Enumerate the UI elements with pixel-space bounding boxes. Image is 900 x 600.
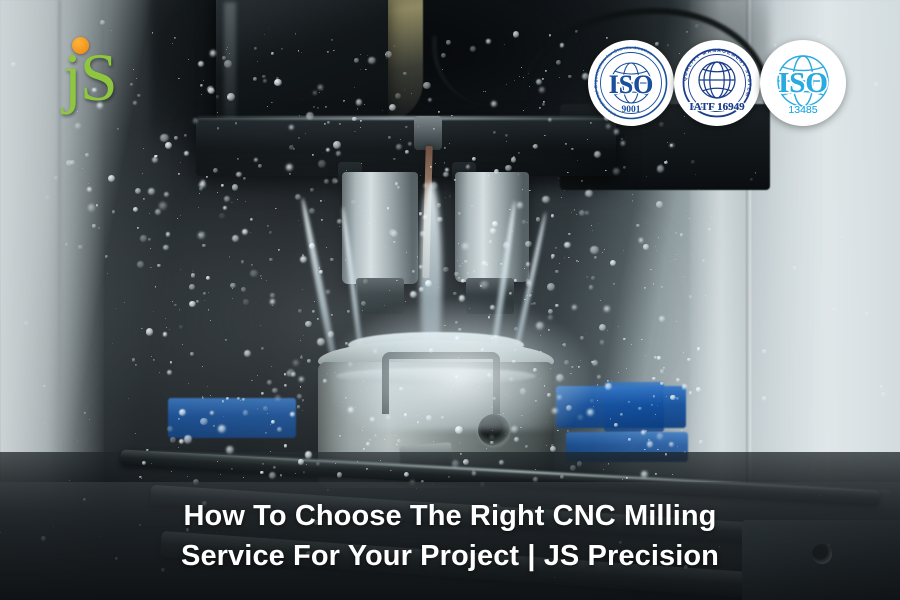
iso-13485-badge-icon: ISO ISO 13485 13485	[760, 40, 846, 126]
svg-text:ISO: ISO	[778, 67, 828, 99]
svg-text:IATF 16949: IATF 16949	[689, 101, 745, 113]
iso-9001-badge-icon: ISO ISO 9001 International Organization …	[588, 40, 674, 126]
coolant-mist	[60, 110, 700, 510]
svg-text:9001: 9001	[622, 105, 641, 115]
iatf-16949-badge-icon: IATF 16949 IATF 16949 QUALITY MANAGEMENT…	[674, 40, 760, 126]
svg-text:QUALITY MANAGEMENT SYSTEM: QUALITY MANAGEMENT SYSTEM	[682, 48, 752, 98]
logo-mark-text: jS	[63, 43, 116, 111]
banner-title: How To Choose The Right CNC Milling Serv…	[0, 496, 900, 576]
hero-banner: jS ISO ISO 9001	[0, 0, 900, 600]
certification-badges: ISO ISO 9001 International Organization …	[588, 40, 860, 126]
banner-title-line-1: How To Choose The Right CNC Milling	[0, 496, 900, 536]
svg-text:13485: 13485	[788, 104, 817, 116]
banner-title-line-2: Service For Your Project | JS Precision	[0, 536, 900, 576]
svg-text:ISO: ISO	[609, 70, 654, 99]
brand-logo[interactable]: jS	[63, 33, 129, 115]
